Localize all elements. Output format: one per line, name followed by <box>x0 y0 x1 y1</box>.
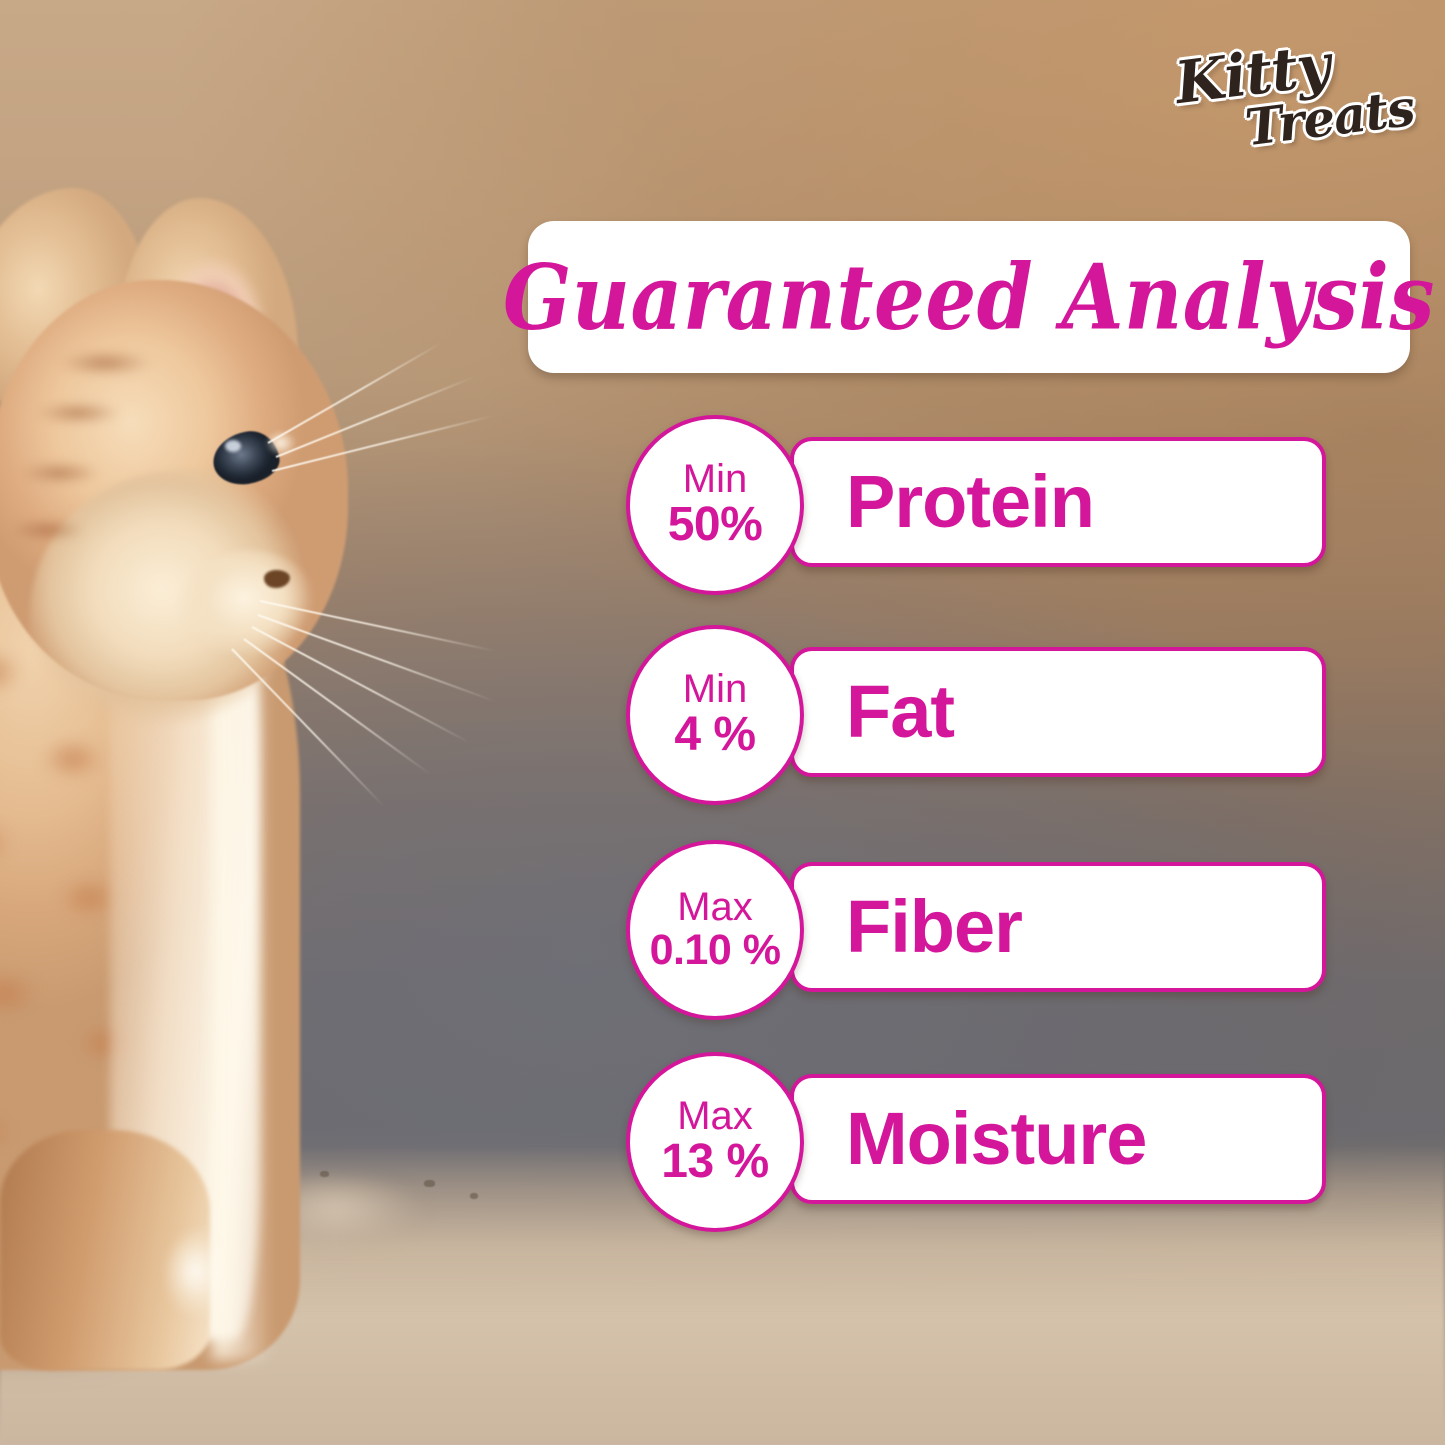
value-protein: 50% <box>668 500 763 550</box>
analysis-row-fat: Fat Min 4 % <box>626 625 1326 805</box>
nutrient-pill-fiber: Fiber <box>790 862 1326 992</box>
guaranteed-analysis-poster: Kitty Treats Guaranteed Analysis Protein… <box>0 0 1445 1445</box>
value-badge-fat: Min 4 % <box>626 625 804 805</box>
nutrient-pill-moisture: Moisture <box>790 1074 1326 1204</box>
value-fat: 4 % <box>674 710 755 760</box>
value-badge-fiber: Max 0.10 % <box>626 840 804 1020</box>
nutrient-pill-fat: Fat <box>790 647 1326 777</box>
analysis-row-protein: Protein Min 50% <box>626 415 1326 595</box>
nutrient-label-moisture: Moisture <box>846 1102 1146 1176</box>
analysis-row-fiber: Fiber Max 0.10 % <box>626 840 1326 1020</box>
analysis-row-moisture: Moisture Max 13 % <box>626 1052 1326 1232</box>
nutrient-label-fat: Fat <box>846 675 954 749</box>
value-badge-protein: Min 50% <box>626 415 804 595</box>
qualifier-fiber: Max <box>677 887 753 928</box>
value-badge-moisture: Max 13 % <box>626 1052 804 1232</box>
qualifier-protein: Min <box>683 459 747 500</box>
value-fiber: 0.10 % <box>650 928 781 973</box>
analysis-row-list: Protein Min 50% Fat Min 4 % Fiber Max 0.… <box>0 0 1445 1445</box>
nutrient-pill-protein: Protein <box>790 437 1326 567</box>
qualifier-fat: Min <box>683 669 747 710</box>
nutrient-label-fiber: Fiber <box>846 890 1022 964</box>
value-moisture: 13 % <box>661 1137 768 1187</box>
nutrient-label-protein: Protein <box>846 465 1094 539</box>
qualifier-moisture: Max <box>677 1096 753 1137</box>
